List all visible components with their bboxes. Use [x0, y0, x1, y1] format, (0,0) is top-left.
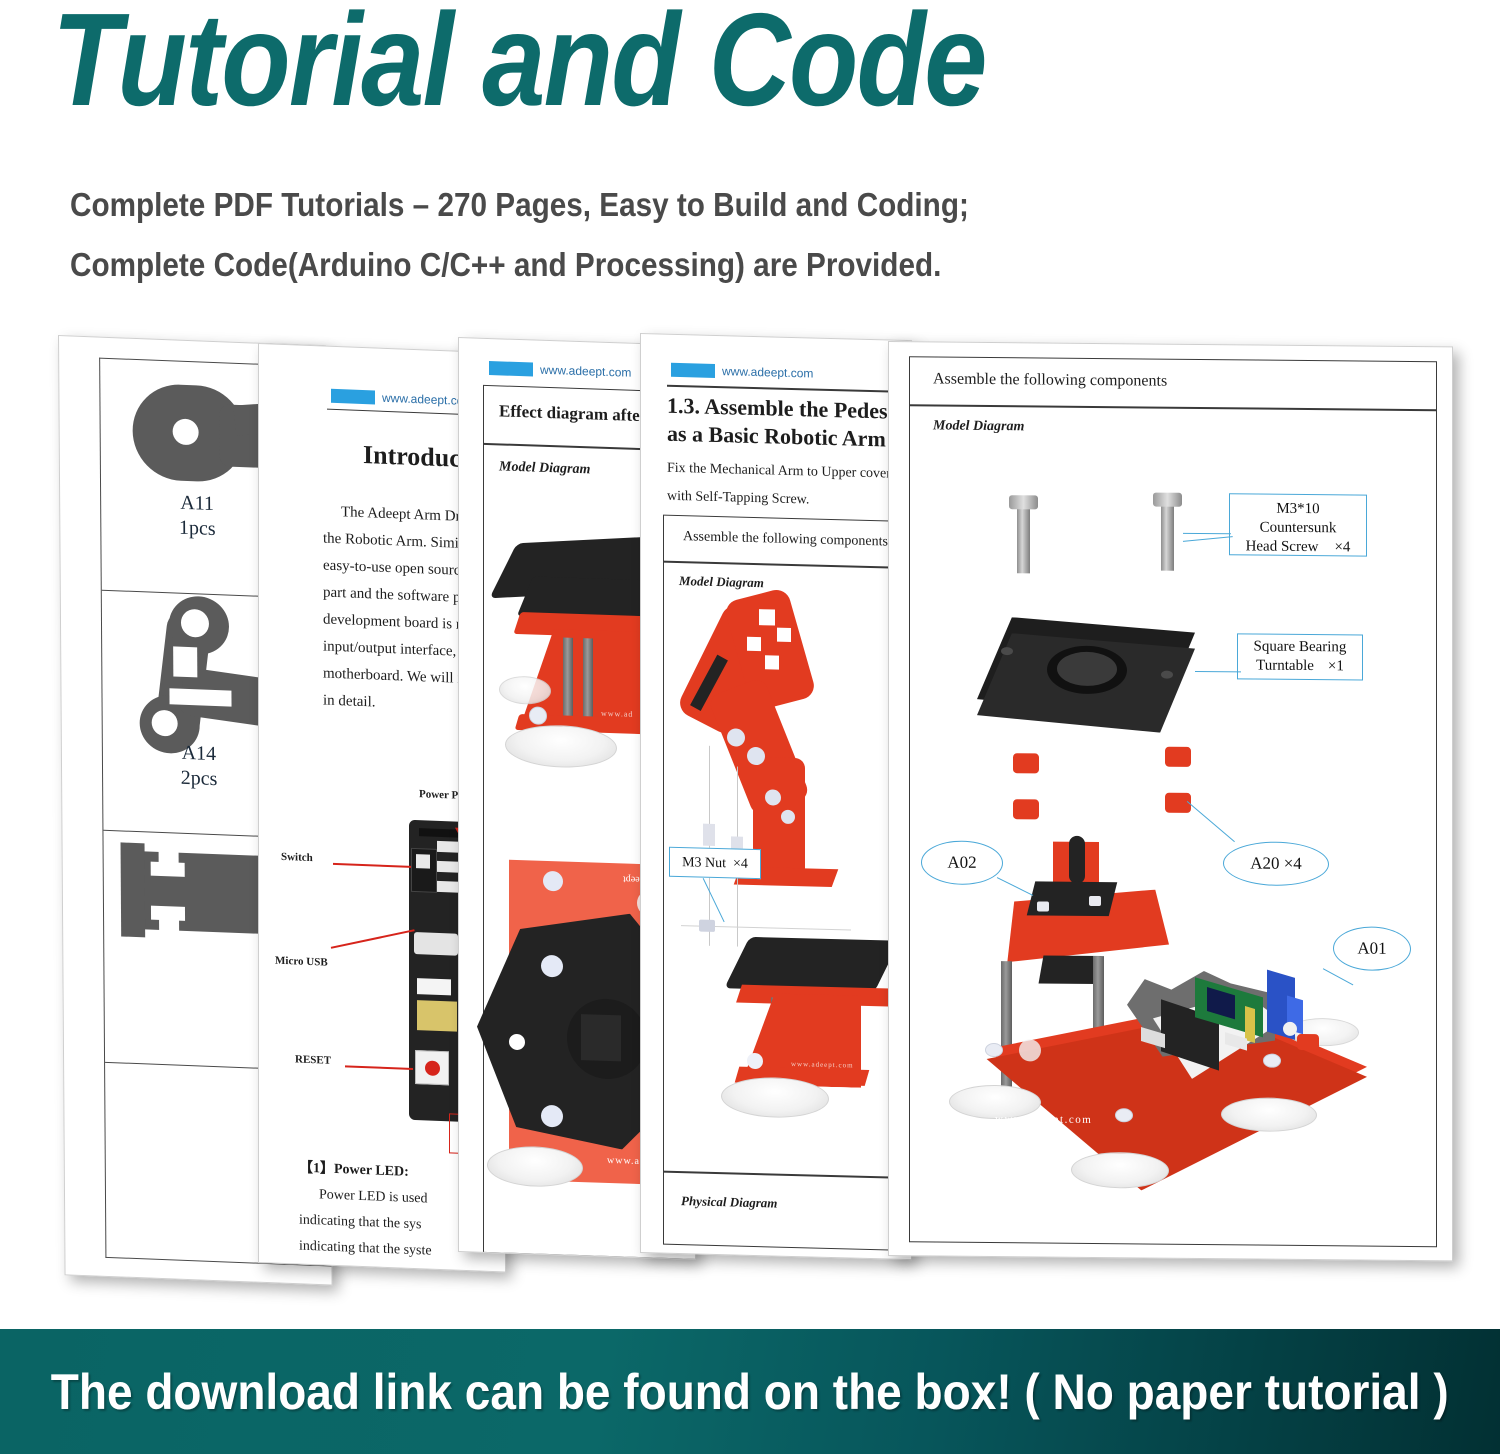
countersunk-screw-figure: [889, 342, 1452, 347]
footer-caption: Physical Diagram: [681, 1193, 777, 1212]
a01-base-plate-figure: adeept www.adeept.com: [889, 342, 1452, 347]
a02-upper-cover-figure: [889, 342, 1452, 347]
square-bearing-turntable-figure: [889, 342, 1452, 347]
intro-line-1: Fix the Mechanical Arm to Upper cover: [667, 461, 891, 483]
download-banner: The download link can be found on the bo…: [0, 1329, 1500, 1454]
subtitle-line-1: Complete PDF Tutorials – 270 Pages, Easy…: [70, 186, 969, 224]
poster-root: Tutorial and Code Complete PDF Tutorials…: [0, 0, 1500, 1454]
page-header: www.adeept.com: [331, 389, 473, 408]
part-label: A142pcs: [124, 739, 274, 795]
robotic-arm-figure: www.adeept.com: [641, 334, 911, 341]
a20-part-figure: [889, 342, 1452, 347]
figure-caption: Model Diagram: [499, 459, 590, 478]
figure-caption: Model Diagram: [933, 418, 1024, 435]
figure-section-header: Assemble the following components: [933, 370, 1167, 390]
section-title-line-2: as a Basic Robotic Arm (: [667, 421, 899, 453]
figure-caption: Model Diagram: [679, 573, 764, 591]
subtitle-line-2: Complete Code(Arduino C/C++ and Processi…: [70, 246, 941, 284]
adeept-logo-chip: [331, 389, 375, 405]
adeept-gear-icon: [1019, 1039, 1041, 1061]
header-divider: [667, 385, 912, 393]
callout-a20: A20 ×4: [1223, 841, 1329, 886]
adeept-logo-chip: [671, 363, 715, 378]
callout-a02: A02: [921, 840, 1003, 885]
page-title: Tutorial and Code: [52, 0, 986, 126]
adeept-logo-chip: [489, 361, 533, 376]
tutorial-page-stack: A111pcs A142pcs: [0, 315, 1500, 1305]
plate-url: www.adeept.com: [995, 1113, 1092, 1126]
header-url: www.adeept.com: [722, 364, 813, 380]
tutorial-page-assemble-pedestal: www.adeept.com 1.3. Assemble the Pedes a…: [640, 333, 912, 1260]
header-url: www.adeept.com: [540, 363, 631, 380]
callout-square-bearing-turntable: Square Bearing Turntable×1: [1237, 633, 1363, 680]
callout-a01: A01: [1333, 926, 1411, 971]
page-header: www.adeept.com: [489, 361, 631, 380]
callout-m3-countersunk-screw: M3*10Countersunk Head Screw×4: [1229, 493, 1367, 556]
plate-logo-text: adeept: [1017, 1027, 1046, 1039]
tutorial-page-assemble-components: Assemble the following components Model …: [888, 341, 1453, 1261]
part-label: A111pcs: [122, 488, 272, 544]
page-header: www.adeept.com: [671, 363, 813, 381]
callout-m3-nut: M3 Nut ×4: [669, 847, 761, 879]
intro-line-2: with Self-Tapping Screw.: [667, 489, 809, 509]
banner-text: The download link can be found on the bo…: [51, 1363, 1449, 1421]
section-title-line-1: 1.3. Assemble the Pedes: [667, 393, 888, 425]
